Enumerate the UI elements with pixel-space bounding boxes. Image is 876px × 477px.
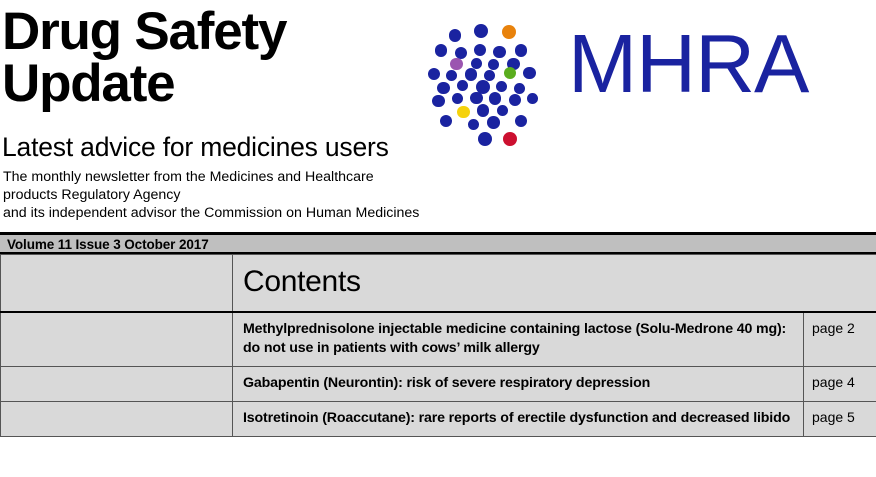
logo-dot [449,29,461,41]
issue-bar: Volume 11 Issue 3 October 2017 [0,232,876,254]
logo-dot [514,83,525,94]
page-title: Drug Safety Update [0,0,420,110]
table-row[interactable]: Methylprednisolone injectable medicine c… [1,312,876,366]
contents-entry-cell[interactable]: Isotretinoin (Roaccutane): rare reports … [233,401,804,436]
logo-dot [468,119,479,130]
logo-dot [437,82,449,94]
contents-gutter-cell [1,366,233,401]
logo-dot [457,80,468,91]
logo-dot [452,93,463,104]
contents-gutter-cell [1,312,233,366]
logo-dot [471,58,482,69]
logo-dot [515,44,527,56]
logo-dot [523,67,535,79]
logo-dot [477,104,489,116]
logo-dot [489,92,501,104]
contents-page-number: page 5 [804,402,876,434]
logo-dot [457,106,469,118]
contents-entry-title: Gabapentin (Neurontin): risk of severe r… [233,367,803,401]
mhra-wordmark: MHRA [568,22,808,105]
logo-dot [440,115,452,127]
logo-dot [497,105,508,116]
logo-dot [496,81,507,92]
logo-dot [435,44,447,56]
logo-dot [450,58,462,70]
contents-page-cell[interactable]: page 4 [804,366,876,401]
logo-dot [465,68,477,80]
logo-dot [488,59,499,70]
logo-dot [527,93,538,104]
logo-dot [432,95,444,107]
table-row[interactable]: Isotretinoin (Roaccutane): rare reports … [1,401,876,436]
logo-dot [478,132,492,146]
logo-dot [509,94,521,106]
masthead-description: The monthly newsletter from the Medicine… [0,163,420,222]
contents-gutter-cell [1,255,233,313]
logo-dot [484,70,495,81]
table-row[interactable]: Gabapentin (Neurontin): risk of severe r… [1,366,876,401]
contents-heading: Contents [233,255,876,311]
contents-page-cell[interactable]: page 2 [804,312,876,366]
logo-dot [515,115,527,127]
logo-dot [503,132,517,146]
contents-entry-title: Methylprednisolone injectable medicine c… [233,313,803,366]
masthead-title-block: Drug Safety Update Latest advice for med… [0,0,420,222]
logo-dot [470,92,482,104]
logo-dot [493,46,505,58]
contents-heading-row: Contents [1,255,876,313]
contents-entry-cell[interactable]: Gabapentin (Neurontin): risk of severe r… [233,366,804,401]
contents-entry-cell[interactable]: Methylprednisolone injectable medicine c… [233,312,804,366]
contents-entry-title: Isotretinoin (Roaccutane): rare reports … [233,402,803,436]
contents-page-number: page 4 [804,367,876,399]
logo-dot [474,24,488,38]
logo-dot [502,25,516,39]
masthead: Drug Safety Update Latest advice for med… [0,0,876,232]
contents-page-number: page 2 [804,313,876,345]
contents-gutter-cell [1,401,233,436]
contents-table: Contents Methylprednisolone injectable m… [0,254,876,437]
contents-heading-cell: Contents [233,255,876,313]
logo-dot [428,68,440,80]
logo-dot [504,67,516,79]
logo-dot [487,116,499,128]
mhra-logo: MHRA [428,10,876,145]
logo-dot [446,70,457,81]
masthead-strapline: Latest advice for medicines users [0,110,420,163]
logo-dot [474,44,486,56]
contents-page-cell[interactable]: page 5 [804,401,876,436]
mhra-dot-cluster-icon [428,14,560,144]
issue-label: Volume 11 Issue 3 October 2017 [7,237,209,252]
